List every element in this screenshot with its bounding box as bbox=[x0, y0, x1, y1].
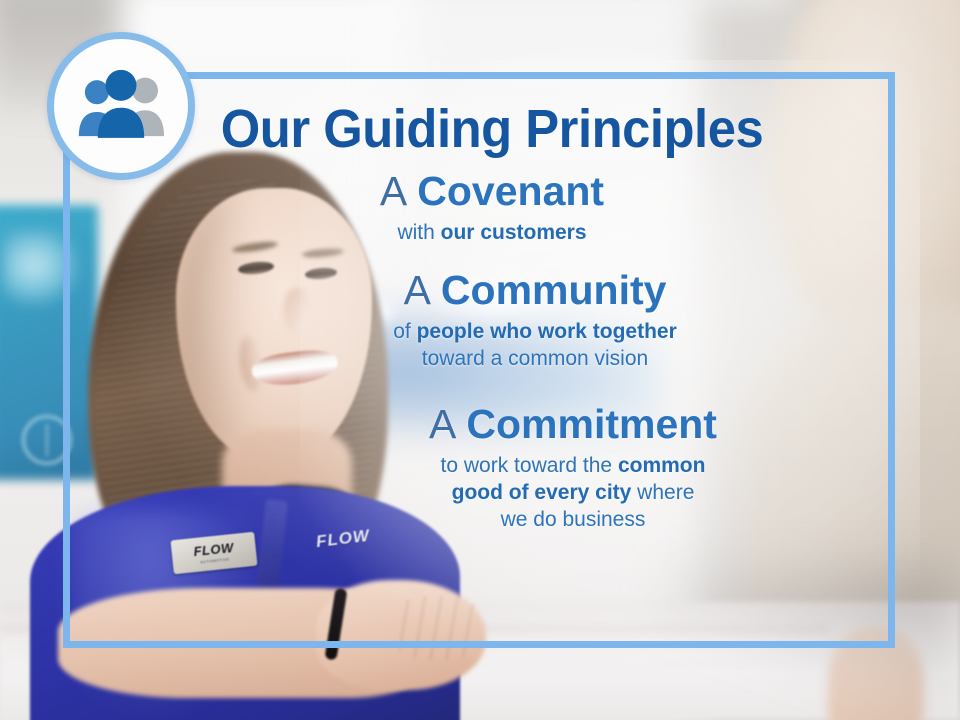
principle-article: A bbox=[429, 401, 456, 447]
principle-commitment-subtext: to work toward the commongood of every c… bbox=[317, 453, 829, 534]
subtext-plain: we do business bbox=[501, 508, 646, 531]
principle-covenant-heading: ACovenant bbox=[155, 170, 829, 213]
subtext-line: good of every city where bbox=[317, 480, 829, 507]
guiding-principles-graphic: FLOW FLOW AUTOMOTIVE Our bbox=[0, 0, 960, 720]
subtext-emphasis: our customers bbox=[441, 221, 587, 244]
subtext-plain: with bbox=[397, 221, 440, 244]
subtext-line: toward a common vision bbox=[241, 346, 829, 373]
principle-keyword: Commitment bbox=[466, 401, 717, 447]
principle-keyword: Covenant bbox=[417, 168, 604, 214]
subtext-line: with our customers bbox=[155, 220, 829, 247]
principle-covenant: ACovenant with our customers bbox=[155, 170, 829, 247]
subtext-plain: to work toward the bbox=[441, 454, 618, 477]
principle-article: A bbox=[380, 168, 407, 214]
subtext-emphasis: common bbox=[618, 454, 706, 477]
principle-commitment-heading: ACommitment bbox=[317, 403, 829, 446]
poster-brand-roundel-icon bbox=[22, 415, 72, 465]
principle-article: A bbox=[404, 267, 431, 313]
subtext-plain: toward a common vision bbox=[422, 347, 648, 370]
subtext-line: to work toward the common bbox=[317, 453, 829, 480]
page-title: Our Guiding Principles bbox=[175, 102, 809, 156]
subtext-emphasis: people who work together bbox=[417, 320, 677, 343]
principle-keyword: Community bbox=[441, 267, 667, 313]
subtext-line: we do business bbox=[317, 507, 829, 534]
subtext-plain: of bbox=[393, 320, 416, 343]
principle-covenant-subtext: with our customers bbox=[155, 220, 829, 247]
principle-community-subtext: of people who work togethertoward a comm… bbox=[241, 319, 829, 373]
content-column: Our Guiding Principles ACovenant with ou… bbox=[95, 72, 863, 648]
subtext-plain: where bbox=[631, 481, 694, 504]
principle-community-heading: ACommunity bbox=[241, 269, 829, 312]
principle-community: ACommunity of people who work togetherto… bbox=[241, 269, 829, 373]
subtext-emphasis: good of every city bbox=[452, 481, 632, 504]
poster-car-image bbox=[2, 230, 82, 308]
principle-commitment: ACommitment to work toward the commongoo… bbox=[317, 403, 829, 534]
subtext-line: of people who work together bbox=[241, 319, 829, 346]
